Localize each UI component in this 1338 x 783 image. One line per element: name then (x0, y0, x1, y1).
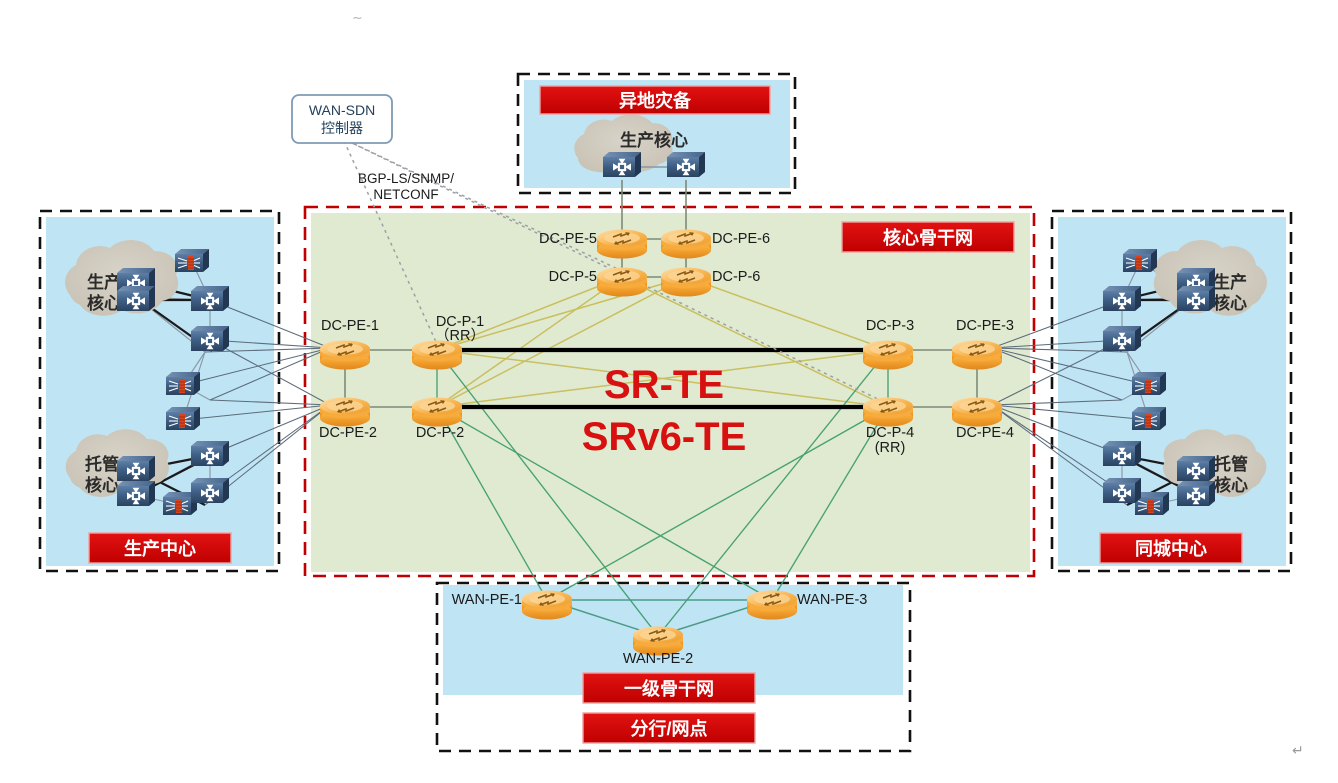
switch-icon[interactable] (667, 152, 705, 177)
protocol-label-line1: BGP-LS/SNMP/ (358, 171, 454, 186)
router-icon-dc-p-4[interactable] (863, 398, 913, 427)
firewall-icon[interactable] (1132, 407, 1166, 430)
router-label-dc-p-2: DC-P-2 (416, 425, 464, 441)
banner-branch-site-label: 分行/网点 (630, 718, 707, 739)
switch-icon[interactable] (603, 152, 641, 177)
banner-primary-backbone: 一级骨干网 (583, 673, 755, 703)
cloud-label-top-production-core: 生产核心 (620, 130, 688, 150)
cloud-label-left-hosted-core-line2: 核心 (85, 475, 119, 495)
router-icon-dc-pe-5[interactable] (597, 230, 647, 259)
cloud-label-left-hosted-core-line1: 托管 (85, 454, 119, 474)
firewall-icon[interactable] (1132, 372, 1166, 395)
router-icon-dc-p-3[interactable] (863, 341, 913, 370)
banner-core-backbone: 核心骨干网 (842, 222, 1014, 252)
router-icon-dc-pe-4[interactable] (952, 398, 1002, 427)
router-label-dc-p-4: DC-P-4 (866, 425, 914, 441)
firewall-icon[interactable] (166, 407, 200, 430)
router-label-dc-p-5: DC-P-5 (549, 269, 597, 285)
switch-icon[interactable] (1103, 326, 1141, 351)
banner-remote-disaster-recovery: 异地灾备 (540, 86, 770, 114)
router-label-dc-pe-5: DC-PE-5 (539, 231, 597, 247)
switch-icon[interactable] (1103, 478, 1141, 503)
router-sublabel-dc-p-4: (RR) (875, 440, 906, 456)
router-sublabel-dc-p-1: （RR） (435, 327, 485, 344)
router-label-dc-pe-3: DC-PE-3 (956, 318, 1014, 334)
cloud-label-right-production-core-line2: 核心 (1213, 293, 1247, 313)
sr-te-label: SR-TE (604, 363, 724, 407)
banner-production-center: 生产中心 (89, 533, 231, 563)
switch-icon[interactable] (117, 481, 155, 506)
banner-primary-backbone-label: 一级骨干网 (624, 678, 714, 699)
banner-production-center-label: 生产中心 (124, 538, 196, 559)
router-icon-dc-pe-6[interactable] (661, 230, 711, 259)
firewall-icon[interactable] (175, 249, 209, 272)
switch-icon[interactable] (117, 456, 155, 481)
router-icon-dc-pe-1[interactable] (320, 341, 370, 370)
banner-same-city-center: 同城中心 (1100, 533, 1242, 563)
router-label-dc-p-3: DC-P-3 (866, 318, 914, 334)
router-label-dc-pe-6: DC-PE-6 (712, 231, 770, 247)
router-icon-dc-p-5[interactable] (597, 268, 647, 297)
banner-remote-disaster-recovery-label: 异地灾备 (619, 90, 692, 111)
router-icon-dc-pe-2[interactable] (320, 398, 370, 427)
switch-icon[interactable] (1103, 286, 1141, 311)
cloud-label-right-hosted-core-line1: 托管 (1214, 454, 1248, 474)
router-icon-dc-pe-3[interactable] (952, 341, 1002, 370)
router-label-dc-pe-1: DC-PE-1 (321, 318, 379, 334)
router-label-wan-pe-2: WAN-PE-2 (623, 651, 693, 667)
protocol-label-line2: NETCONF (373, 187, 438, 202)
pilcrow-artifact: ↵ (1292, 744, 1304, 759)
switch-icon[interactable] (1177, 456, 1215, 481)
switch-icon[interactable] (191, 478, 229, 503)
router-label-wan-pe-3: WAN-PE-3 (797, 592, 867, 608)
router-icon-wan-pe-3[interactable] (747, 591, 797, 620)
router-label-dc-p-6: DC-P-6 (712, 269, 760, 285)
cloud-label-left-production-core-line2: 核心 (87, 293, 121, 313)
router-icon-dc-p-1[interactable] (412, 341, 462, 370)
top-artifact: ∼ (352, 10, 363, 25)
cloud-label-right-production-core-line1: 生产 (1213, 272, 1247, 292)
banner-same-city-center-label: 同城中心 (1135, 538, 1207, 559)
network-topology-diagram: 生产 核心 托管 核心 生产 核心 托管 核心 生产核心 (0, 0, 1338, 783)
firewall-icon[interactable] (1123, 249, 1157, 272)
router-icon-wan-pe-1[interactable] (522, 591, 572, 620)
banner-branch-site: 分行/网点 (583, 713, 755, 743)
switch-icon[interactable] (1103, 441, 1141, 466)
banner-core-backbone-label: 核心骨干网 (883, 227, 973, 248)
switch-icon[interactable] (191, 441, 229, 466)
router-icon-dc-p-2[interactable] (412, 398, 462, 427)
switch-icon[interactable] (1177, 481, 1215, 506)
cloud-label-left-production-core-line1: 生产 (87, 272, 121, 292)
router-label-dc-pe-4: DC-PE-4 (956, 425, 1014, 441)
switch-icon[interactable] (191, 286, 229, 311)
controller-label-line2: 控制器 (321, 120, 363, 136)
router-icon-dc-p-6[interactable] (661, 268, 711, 297)
diagram-canvas: 生产 核心 托管 核心 生产 核心 托管 核心 生产核心 (0, 0, 1338, 783)
switch-icon[interactable] (191, 326, 229, 351)
switch-icon[interactable] (117, 286, 155, 311)
wan-sdn-controller[interactable]: WAN-SDN 控制器 (292, 95, 392, 143)
srv6-te-label: SRv6-TE (582, 415, 747, 459)
firewall-icon[interactable] (166, 372, 200, 395)
router-label-dc-pe-2: DC-PE-2 (319, 425, 377, 441)
controller-label-line1: WAN-SDN (309, 102, 375, 118)
switch-icon[interactable] (1177, 286, 1215, 311)
cloud-label-right-hosted-core-line2: 核心 (1214, 475, 1248, 495)
router-label-wan-pe-1: WAN-PE-1 (452, 592, 522, 608)
